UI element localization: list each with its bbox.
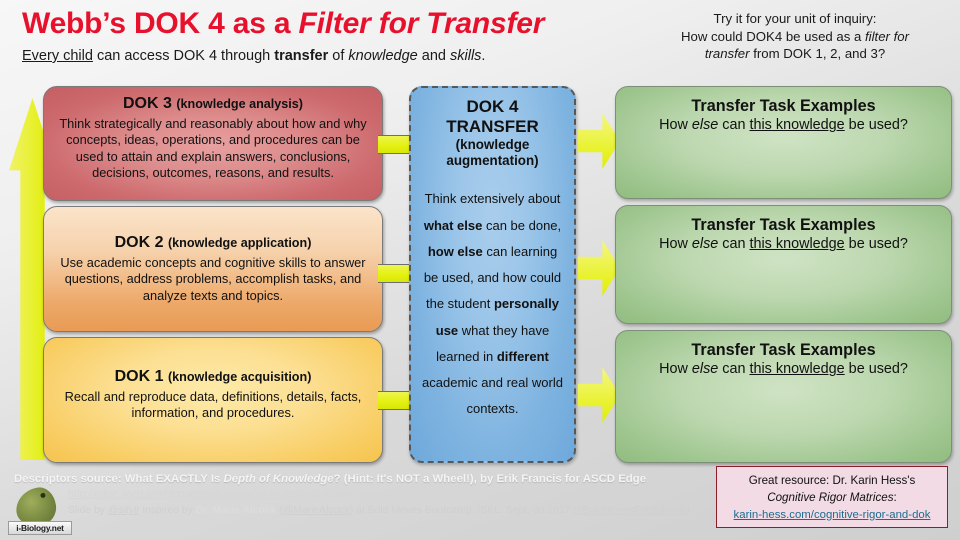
prompt-line-3-italic: transfer: [705, 46, 750, 61]
tt3-qi: else: [692, 361, 718, 377]
right-arrow-icon-1: [578, 113, 620, 169]
page-subtitle: Every child can access DOK 4 through tra…: [22, 48, 622, 65]
tt1-qc: be used?: [845, 117, 908, 133]
resource-line-2-italic: Cognitive Rigor Matrices: [767, 491, 893, 504]
credit-e: ): [687, 505, 690, 516]
tt2-qi: else: [692, 236, 718, 252]
credit-name-alcock: Dr. Marie Alcock: [196, 505, 276, 516]
transfer-task-2-question: How else can this knowledge be used?: [616, 235, 951, 254]
footer-credit-line: Slide by @sitylr inspired by Dr. Marie A…: [68, 503, 714, 519]
dok1-heading-title: DOK 1: [115, 368, 164, 385]
dok4-subtitle-line1: (knowledge: [422, 137, 563, 153]
subtitle-underlined: Every child: [22, 48, 93, 64]
dok3-heading-subtitle: (knowledge analysis): [176, 97, 303, 111]
subtitle-bold: transfer: [274, 48, 328, 64]
tt3-qc: be used?: [845, 361, 908, 377]
transfer-task-3-heading: Transfer Task Examples: [616, 340, 951, 360]
dok2-body: Use academic concepts and cognitive skil…: [57, 255, 369, 305]
dok4-title-line2: TRANSFER: [422, 117, 563, 137]
tt1-qi: else: [692, 117, 718, 133]
i-biology-logo: i-Biology.net: [8, 488, 74, 538]
tt3-qu: this knowledge: [749, 361, 844, 377]
dok4-body-p1: Think extensively about: [425, 191, 561, 206]
try-it-prompt: Try it for your unit of inquiry: How cou…: [640, 10, 950, 63]
footer-attribution: Descriptors source: What EXACTLY Is Dept…: [14, 472, 714, 519]
transfer-task-box-3[interactable]: Transfer Task Examples How else can this…: [615, 330, 952, 463]
credit-handle-mariealcock[interactable]: @MarieAlcock: [283, 505, 350, 516]
transfer-task-1-heading: Transfer Task Examples: [616, 96, 951, 116]
slide-canvas: Webb’s DOK 4 as a Filter for Transfer Ev…: [0, 0, 960, 540]
subtitle-part1: can access DOK 4 through: [93, 48, 274, 64]
dok3-heading-title: DOK 3: [123, 95, 172, 112]
tt1-qa: How: [659, 117, 692, 133]
prompt-line-3-text: from DOK 1, 2, and 3?: [750, 46, 886, 61]
logo-label: i-Biology.net: [8, 521, 72, 535]
prompt-line-1: Try it for your unit of inquiry:: [640, 10, 950, 28]
resource-link[interactable]: karin-hess.com/cognitive-rigor-and-dok: [717, 507, 947, 524]
prompt-line-2: How could DOK4 be used as a filter for: [640, 28, 950, 46]
dok4-body-b2: how else: [428, 244, 483, 259]
dok4-title-line1: DOK 4: [422, 97, 563, 117]
tt2-qb: can: [718, 236, 749, 252]
subtitle-italic-skills: skills: [450, 48, 481, 64]
tt3-qb: can: [718, 361, 749, 377]
title-italic: Filter for Transfer: [299, 7, 545, 40]
tt2-qu: this knowledge: [749, 236, 844, 252]
page-title: Webb’s DOK 4 as a Filter for Transfer: [22, 8, 622, 40]
dok4-body: Think extensively about what else can be…: [422, 186, 563, 422]
title-main: Webb’s DOK 4 as a: [22, 7, 299, 40]
resource-line-2: Cognitive Rigor Matrices:: [717, 490, 947, 507]
dok1-body: Recall and reproduce data, definitions, …: [57, 389, 369, 422]
footer-source-url[interactable]: http://edge.ascd.org/blogpost/what-exact…: [68, 487, 714, 503]
dok2-heading-title: DOK 2: [115, 234, 164, 251]
tt2-qa: How: [659, 236, 692, 252]
dok4-body-b4: different: [497, 349, 549, 364]
resource-line-1: Great resource: Dr. Karin Hess's: [717, 473, 947, 490]
tt2-qc: be used?: [845, 236, 908, 252]
credit-b: inspired by: [140, 505, 196, 516]
right-arrow-icon-2: [578, 240, 620, 296]
resource-callout-box[interactable]: Great resource: Dr. Karin Hess's Cogniti…: [716, 466, 948, 528]
credit-hashtag[interactable]: #BoldMovesForSchools: [577, 505, 687, 516]
dok4-transfer-box[interactable]: DOK 4 TRANSFER (knowledge augmentation) …: [409, 86, 576, 463]
tt1-qu: this knowledge: [749, 117, 844, 133]
prompt-line-2-text: How could DOK4 be used as a: [681, 29, 865, 44]
tt3-qa: How: [659, 361, 692, 377]
subtitle-end: .: [481, 48, 485, 64]
prompt-line-3: transfer from DOK 1, 2, and 3?: [640, 45, 950, 63]
dok-level-box-dok1[interactable]: DOK 1 (knowledge acquisition) Recall and…: [43, 337, 383, 463]
resource-line-2-colon: :: [894, 491, 897, 504]
connector-bar-dok1-to-dok4: [378, 391, 410, 410]
footer-source-italic: Depth of Knowledge: [224, 473, 334, 485]
connector-bar-dok2-to-dok4: [378, 264, 410, 283]
subtitle-part2: of: [328, 48, 348, 64]
footer-source-line: Descriptors source: What EXACTLY Is Dept…: [14, 472, 714, 487]
connector-bar-dok3-to-dok4: [378, 135, 410, 154]
dok-level-box-dok3[interactable]: DOK 3 (knowledge analysis) Think strateg…: [43, 86, 383, 201]
transfer-task-box-2[interactable]: Transfer Task Examples How else can this…: [615, 205, 952, 324]
dok3-body: Think strategically and reasonably about…: [57, 116, 369, 182]
dok2-heading-subtitle: (knowledge application): [168, 236, 311, 250]
dok2-heading: DOK 2 (knowledge application): [57, 233, 369, 254]
prompt-line-2-italic: filter for: [865, 29, 909, 44]
dok-level-box-dok2[interactable]: DOK 2 (knowledge application) Use academ…: [43, 206, 383, 332]
dok3-heading: DOK 3 (knowledge analysis): [57, 94, 369, 115]
dok1-heading-subtitle: (knowledge acquisition): [168, 370, 311, 384]
dok4-body-p5: academic and real world contexts.: [422, 375, 563, 416]
credit-d: ) at Bold Moves Bootcamp, ISKL, Sept. 30…: [350, 505, 577, 516]
dok4-body-b1: what else: [424, 218, 483, 233]
footer-source-a: Descriptors source: What EXACTLY Is: [14, 473, 224, 485]
subtitle-part3: and: [418, 48, 450, 64]
footer-source-b: ? (Hint: It's NOT a Wheel!), by Erik Fra…: [334, 473, 646, 485]
transfer-task-3-question: How else can this knowledge be used?: [616, 360, 951, 379]
dok1-heading: DOK 1 (knowledge acquisition): [57, 367, 369, 388]
subtitle-italic-knowledge: knowledge: [348, 48, 417, 64]
transfer-task-1-question: How else can this knowledge be used?: [616, 116, 951, 135]
tt1-qb: can: [718, 117, 749, 133]
credit-handle-sitylr[interactable]: @sitylr: [108, 505, 140, 516]
transfer-task-box-1[interactable]: Transfer Task Examples How else can this…: [615, 86, 952, 199]
right-arrow-icon-3: [578, 367, 620, 423]
dok4-body-p2: can be done,: [482, 218, 561, 233]
dok4-subtitle-line2: augmentation): [422, 153, 563, 169]
transfer-task-2-heading: Transfer Task Examples: [616, 215, 951, 235]
